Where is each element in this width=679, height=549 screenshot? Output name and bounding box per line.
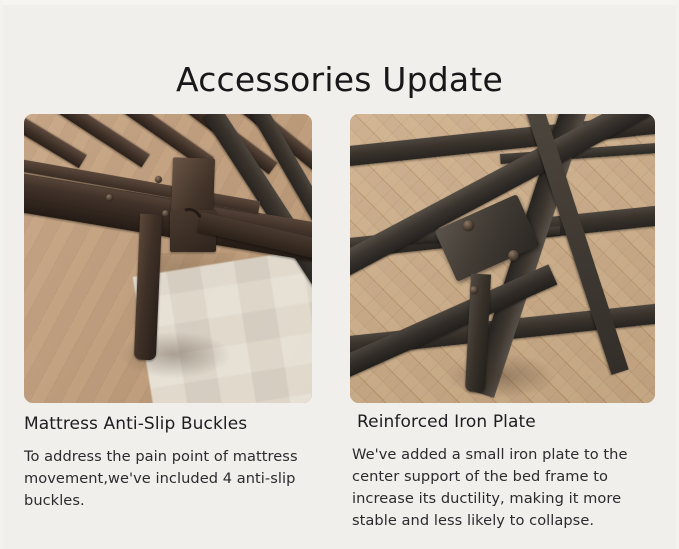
- product-image-mattress-anti-slip-buckles: [24, 114, 312, 403]
- rivet: [508, 250, 519, 261]
- rivet: [106, 194, 113, 201]
- caption-title: Reinforced Iron Plate: [352, 412, 657, 432]
- caption-reinforced-iron-plate: Reinforced Iron Plate We've added a smal…: [352, 412, 657, 532]
- caption-body: We've added a small iron plate to the ce…: [352, 444, 657, 532]
- caption-mattress-anti-slip-buckles: Mattress Anti-Slip Buckles To address th…: [24, 414, 324, 512]
- rivet: [463, 220, 474, 231]
- top-edge-highlight: [0, 0, 679, 5]
- rivet: [470, 286, 478, 294]
- leg-shadow: [446, 354, 556, 398]
- product-image-reinforced-iron-plate: [350, 114, 655, 403]
- rivet: [155, 176, 162, 183]
- rivet: [162, 210, 169, 217]
- caption-body: To address the pain point of mattress mo…: [24, 446, 324, 512]
- page-title: Accessories Update: [0, 60, 679, 99]
- caption-title: Mattress Anti-Slip Buckles: [24, 414, 324, 434]
